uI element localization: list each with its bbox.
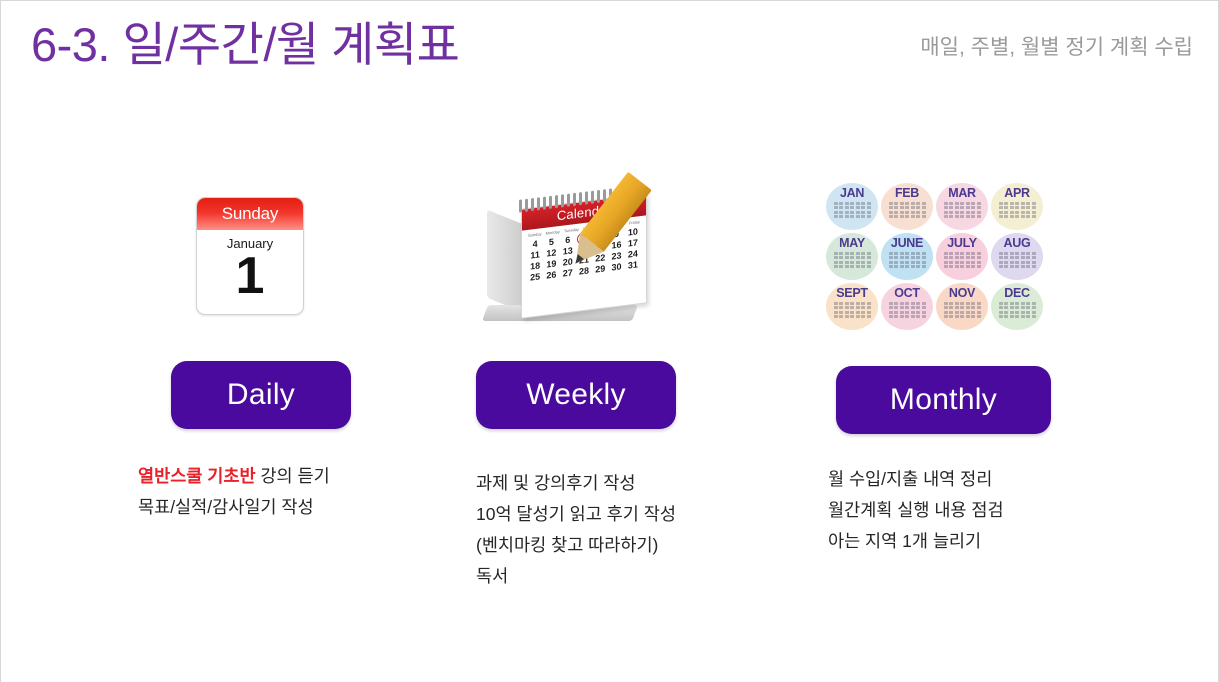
weekly-task-rest: 과제 및 강의후기 작성	[476, 473, 636, 493]
weekly-task-list: 과제 및 강의후기 작성 10억 달성기 읽고 후기 작성 (벤치마킹 찾고 따…	[476, 468, 676, 592]
monthly-task-list: 월 수입/지출 내역 정리 월간계획 실행 내용 점검 아는 지역 1개 늘리기	[828, 464, 1004, 557]
twelve-month-circles-icon: JANFEBMARAPRMAYJUNEJULYAUGSEPTOCTNOVDEC	[826, 183, 1043, 330]
month-circle-label: MAR	[948, 187, 976, 200]
month-circle-label: SEPT	[836, 287, 867, 300]
plan-columns: Sunday January 1 Daily 열반스쿨 기초반 강의 듣기 목표…	[1, 176, 1218, 646]
weekly-task-rest: (벤치마킹 찾고 따라하기)	[476, 535, 658, 555]
month-mini-grid	[834, 252, 871, 269]
month-circle-label: APR	[1004, 187, 1030, 200]
month-circle-label: AUG	[1004, 237, 1031, 250]
month-circle-sept: SEPT	[826, 283, 878, 330]
desk-calendar-date: 25	[527, 271, 543, 283]
month-mini-grid	[889, 302, 926, 319]
desk-calendar-date: 31	[625, 259, 641, 271]
daily-task-rest: 목표/실적/감사일기 작성	[138, 497, 314, 517]
month-circle-jan: JAN	[826, 183, 878, 230]
month-circle-june: JUNE	[881, 233, 933, 280]
list-item: 10억 달성기 읽고 후기 작성	[476, 499, 676, 530]
weekly-task-rest: 10억 달성기 읽고 후기 작성	[476, 504, 676, 524]
month-circle-feb: FEB	[881, 183, 933, 230]
month-circle-label: DEC	[1004, 287, 1030, 300]
page-title: 6-3. 일/주간/월 계획표	[31, 15, 459, 75]
month-circle-oct: OCT	[881, 283, 933, 330]
month-mini-grid	[834, 302, 871, 319]
list-item: 아는 지역 1개 늘리기	[828, 526, 1004, 557]
month-circle-apr: APR	[991, 183, 1043, 230]
month-mini-grid	[944, 302, 981, 319]
page-subtitle: 매일, 주별, 월별 정기 계획 수립	[920, 33, 1193, 63]
desk-calendar-date: 26	[543, 269, 559, 281]
month-circle-label: OCT	[894, 287, 920, 300]
weekly-button[interactable]: Weekly	[476, 361, 676, 429]
month-circle-label: NOV	[949, 287, 975, 300]
monthly-button[interactable]: Monthly	[836, 366, 1051, 434]
slide-canvas: 6-3. 일/주간/월 계획표 매일, 주별, 월별 정기 계획 수립 Sund…	[0, 0, 1219, 682]
plan-column-weekly: Calendar Sunday Monday Tuesday Wednesday…	[456, 176, 786, 336]
monthly-task-rest: 월간계획 실행 내용 점검	[828, 500, 1004, 520]
desk-calendar-pencil-icon: Calendar Sunday Monday Tuesday Wednesday…	[481, 185, 653, 327]
list-item: 월 수입/지출 내역 정리	[828, 464, 1004, 495]
weekly-button-label: Weekly	[526, 378, 626, 412]
desk-calendar-date: 29	[592, 263, 608, 275]
month-circle-nov: NOV	[936, 283, 988, 330]
daily-button-label: Daily	[227, 378, 295, 412]
monthly-button-label: Monthly	[890, 383, 997, 417]
list-item: (벤치마킹 찾고 따라하기)	[476, 530, 676, 561]
month-mini-grid	[999, 302, 1036, 319]
wall-calendar-icon: Sunday January 1	[196, 197, 304, 315]
month-circle-label: FEB	[895, 187, 919, 200]
list-item: 독서	[476, 561, 676, 592]
month-mini-grid	[999, 202, 1036, 219]
desk-calendar-date: 30	[608, 261, 624, 273]
weekly-icon-wrap: Calendar Sunday Monday Tuesday Wednesday…	[456, 176, 786, 336]
month-mini-grid	[999, 252, 1036, 269]
month-circle-aug: AUG	[991, 233, 1043, 280]
plan-column-daily: Sunday January 1 Daily 열반스쿨 기초반 강의 듣기 목표…	[126, 176, 456, 336]
plan-column-monthly: JANFEBMARAPRMAYJUNEJULYAUGSEPTOCTNOVDEC …	[806, 176, 1136, 336]
month-mini-grid	[944, 252, 981, 269]
daily-task-list: 열반스쿨 기초반 강의 듣기 목표/실적/감사일기 작성	[138, 461, 330, 523]
monthly-icon-wrap: JANFEBMARAPRMAYJUNEJULYAUGSEPTOCTNOVDEC	[806, 176, 1136, 336]
month-circle-label: MAY	[839, 237, 865, 250]
month-mini-grid	[834, 202, 871, 219]
list-item: 월간계획 실행 내용 점검	[828, 495, 1004, 526]
list-item: 목표/실적/감사일기 작성	[138, 492, 330, 523]
month-circle-mar: MAR	[936, 183, 988, 230]
daily-button[interactable]: Daily	[171, 361, 351, 429]
month-mini-grid	[889, 202, 926, 219]
weekly-task-rest: 독서	[476, 566, 508, 586]
monthly-task-rest: 아는 지역 1개 늘리기	[828, 531, 981, 551]
month-circle-label: JAN	[840, 187, 864, 200]
month-circle-dec: DEC	[991, 283, 1043, 330]
month-circle-label: JULY	[947, 237, 977, 250]
list-item: 과제 및 강의후기 작성	[476, 468, 676, 499]
monthly-task-rest: 월 수입/지출 내역 정리	[828, 469, 992, 489]
month-circle-may: MAY	[826, 233, 878, 280]
daily-task-highlight: 열반스쿨 기초반	[138, 466, 256, 486]
wall-calendar-day: 1	[197, 249, 303, 303]
daily-icon-wrap: Sunday January 1	[126, 176, 456, 336]
month-circle-label: JUNE	[891, 237, 923, 250]
month-mini-grid	[889, 252, 926, 269]
month-circle-july: JULY	[936, 233, 988, 280]
daily-task-rest: 강의 듣기	[256, 466, 330, 486]
list-item: 열반스쿨 기초반 강의 듣기	[138, 461, 330, 492]
month-mini-grid	[944, 202, 981, 219]
wall-calendar-header: Sunday	[197, 198, 303, 230]
wall-calendar-weekday: Sunday	[222, 204, 278, 224]
